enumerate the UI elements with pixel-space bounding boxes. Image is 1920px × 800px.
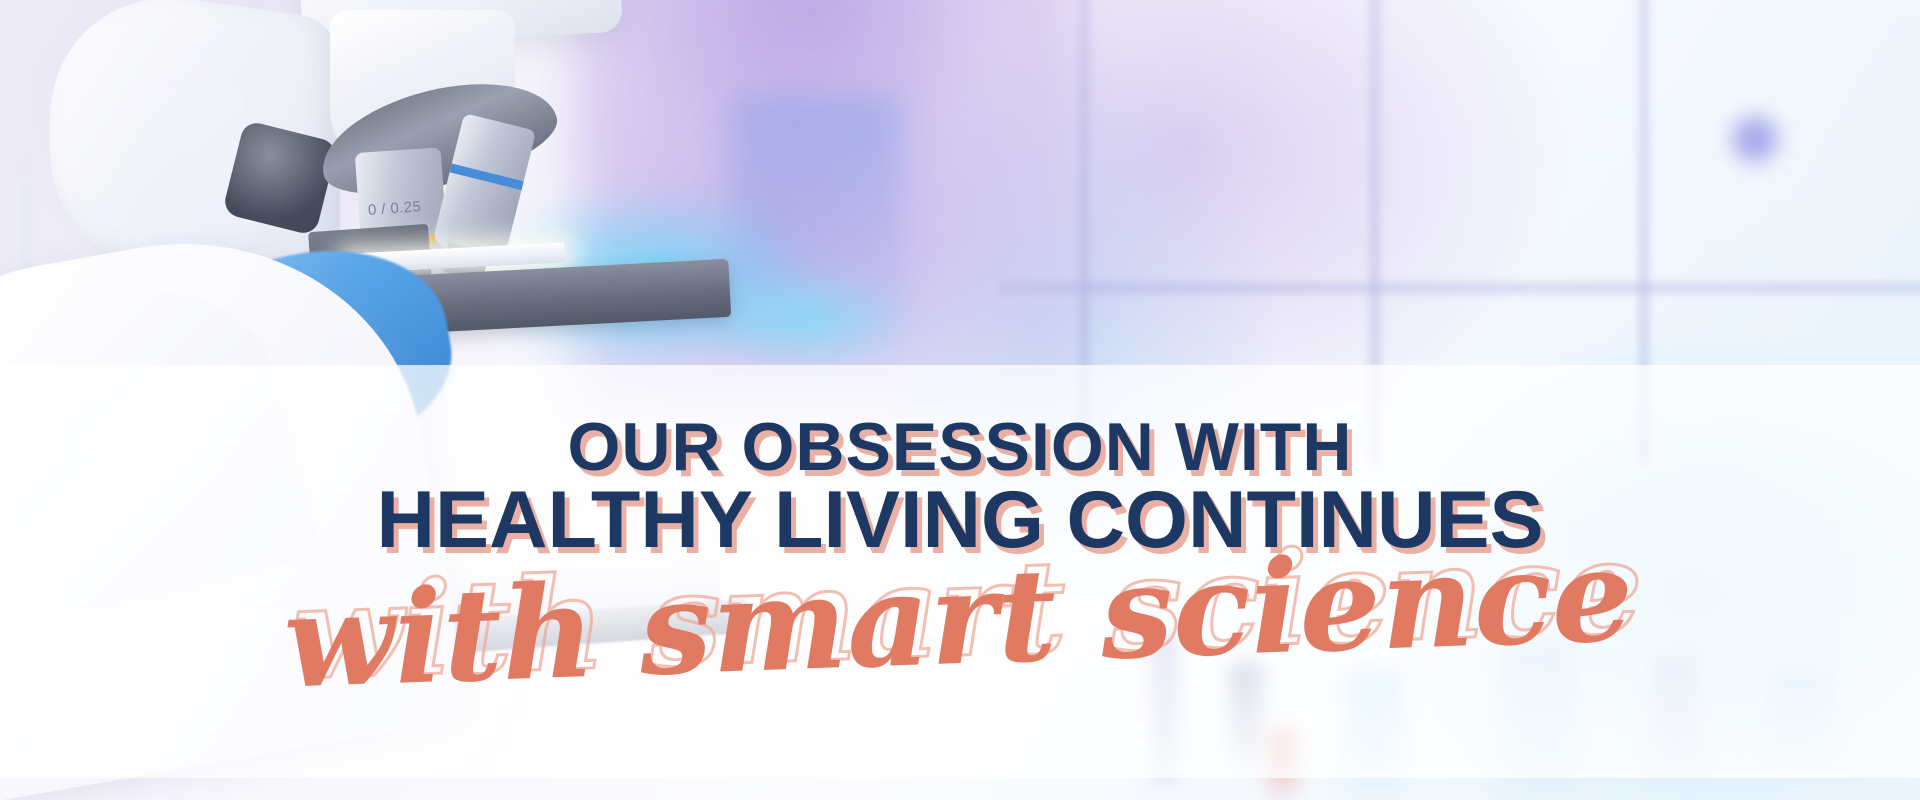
objective-blue-ring: [450, 164, 524, 191]
script-tagline-svg: with smart science with smart science: [310, 551, 1610, 701]
blurred-object: [1728, 112, 1782, 166]
banner-copy: Our Obsession With Healthy Living Contin…: [0, 365, 1920, 778]
hero-banner: 0 / 0.25 160/0.17 Our Obsession With Hea…: [0, 0, 1920, 800]
headline-line-1: Our Obsession With: [376, 417, 1543, 478]
script-tagline-text: with smart science: [281, 521, 1635, 718]
script-tagline: with smart science with smart science: [310, 551, 1610, 701]
window-mullion-horizontal: [998, 285, 1920, 291]
